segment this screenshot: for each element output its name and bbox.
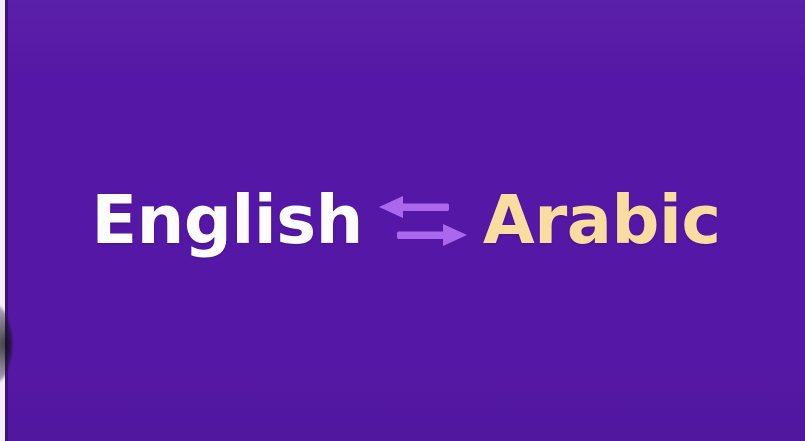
language-pair-row: English Arabic xyxy=(7,0,805,441)
source-language-label[interactable]: English xyxy=(91,187,362,254)
left-edge-seam xyxy=(5,0,8,441)
swap-languages-button[interactable] xyxy=(363,186,483,256)
target-language-label[interactable]: Arabic xyxy=(483,187,721,254)
language-pair-banner: English Arabic xyxy=(0,0,805,441)
swap-horizontal-arrows-icon xyxy=(377,194,469,248)
